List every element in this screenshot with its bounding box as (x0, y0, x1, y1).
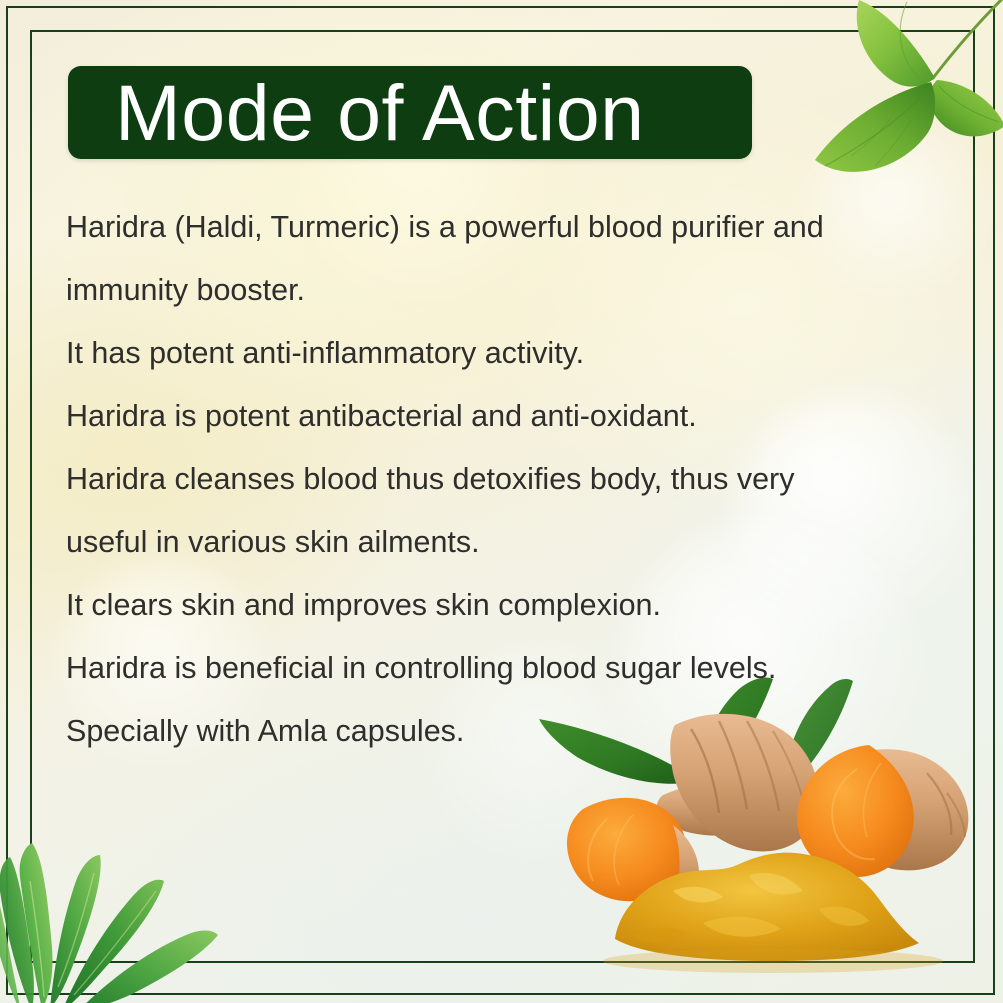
title-banner: Mode of Action (68, 66, 752, 159)
page-title: Mode of Action (68, 73, 645, 152)
copy-line: Haridra is potent antibacterial and anti… (66, 385, 926, 448)
copy-line: useful in various skin ailments. (66, 511, 926, 574)
copy-line: Haridra is beneficial in controlling blo… (66, 637, 926, 700)
copy-line: immunity booster. (66, 259, 926, 322)
copy-line: It has potent anti-inflammatory activity… (66, 322, 926, 385)
copy-line: Haridra (Haldi, Turmeric) is a powerful … (66, 196, 926, 259)
copy-line: Specially with Amla capsules. (66, 700, 926, 763)
copy-line: It clears skin and improves skin complex… (66, 574, 926, 637)
copy-line: Haridra cleanses blood thus detoxifies b… (66, 448, 926, 511)
poster-canvas: Mode of Action Haridra (Haldi, Turmeric)… (0, 0, 1003, 1003)
body-copy: Haridra (Haldi, Turmeric) is a powerful … (66, 196, 926, 763)
